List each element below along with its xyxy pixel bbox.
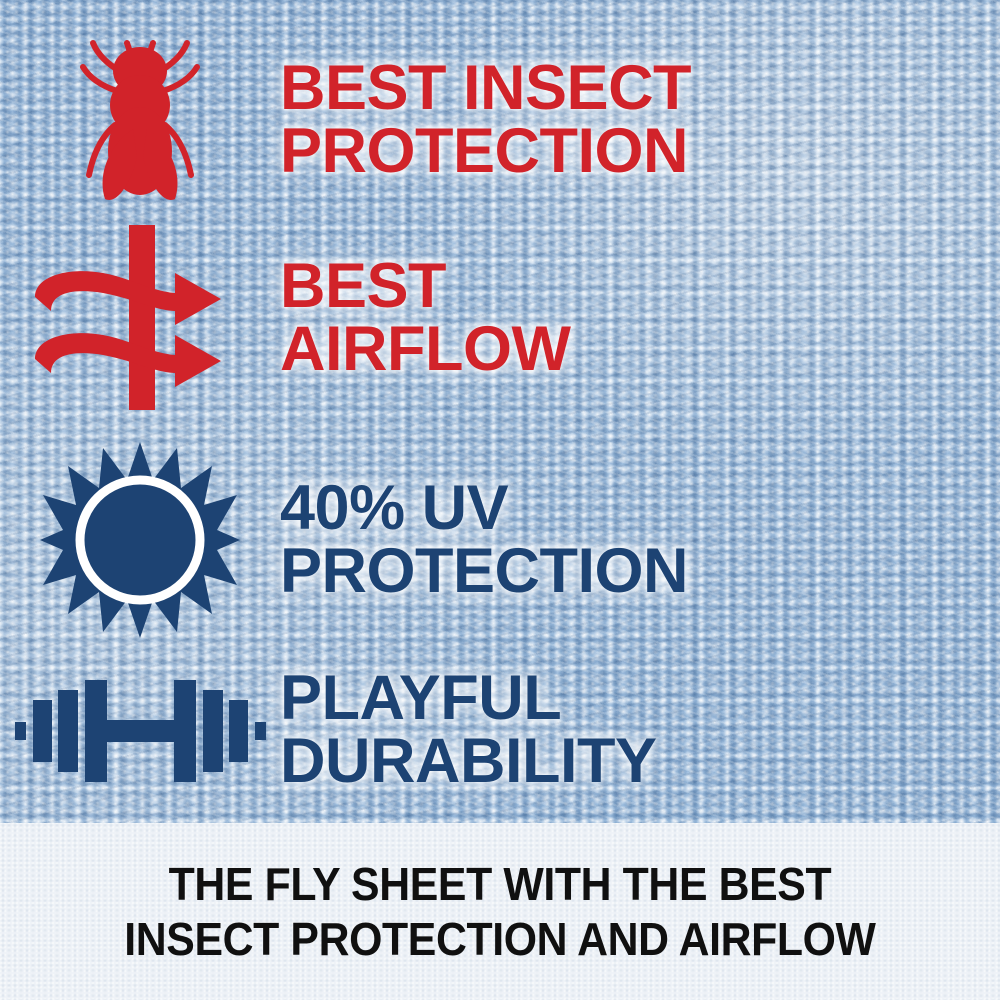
feature-headline-uv-protection: 40% UV PROTECTION xyxy=(280,477,1000,603)
feature-headline-insect-protection: BEST INSECT PROTECTION xyxy=(280,57,1000,183)
feature-headline-durability: PLAYFUL DURABILITY xyxy=(280,667,1000,793)
feature-row-durability: PLAYFUL DURABILITY xyxy=(0,650,1000,810)
airflow-arrows-icon xyxy=(25,225,255,410)
fly-icon xyxy=(65,33,215,208)
feature-text-cell-durability: PLAYFUL DURABILITY xyxy=(280,667,1000,793)
feature-text-cell-insect: BEST INSECT PROTECTION xyxy=(280,57,1000,183)
caption-headline: THE FLY SHEET WITH THE BEST INSECT PROTE… xyxy=(106,857,894,966)
feature-text-cell-airflow: BEST AIRFLOW xyxy=(280,255,1000,381)
product-feature-infographic: BEST INSECT PROTECTION BEST AIRFLO xyxy=(0,0,1000,1000)
sun-burst-icon xyxy=(40,440,240,640)
airflow-arrow-upper xyxy=(35,271,221,325)
feature-row-airflow: BEST AIRFLOW xyxy=(0,225,1000,410)
feature-row-uv-protection: 40% UV PROTECTION xyxy=(0,440,1000,640)
feature-icon-cell-durability xyxy=(0,665,280,795)
feature-icon-cell-uv xyxy=(0,440,280,640)
feature-row-insect-protection: BEST INSECT PROTECTION xyxy=(0,30,1000,210)
airflow-arrow-lower xyxy=(35,333,221,387)
dumbbell-icon xyxy=(13,665,268,795)
feature-icon-cell-insect xyxy=(0,33,280,208)
airflow-barrier-bar xyxy=(129,225,155,410)
caption-bar: THE FLY SHEET WITH THE BEST INSECT PROTE… xyxy=(0,823,1000,1000)
sun-burst-star xyxy=(40,442,240,638)
feature-icon-cell-airflow xyxy=(0,225,280,410)
feature-headline-airflow: BEST AIRFLOW xyxy=(280,255,1000,381)
feature-text-cell-uv: 40% UV PROTECTION xyxy=(280,477,1000,603)
